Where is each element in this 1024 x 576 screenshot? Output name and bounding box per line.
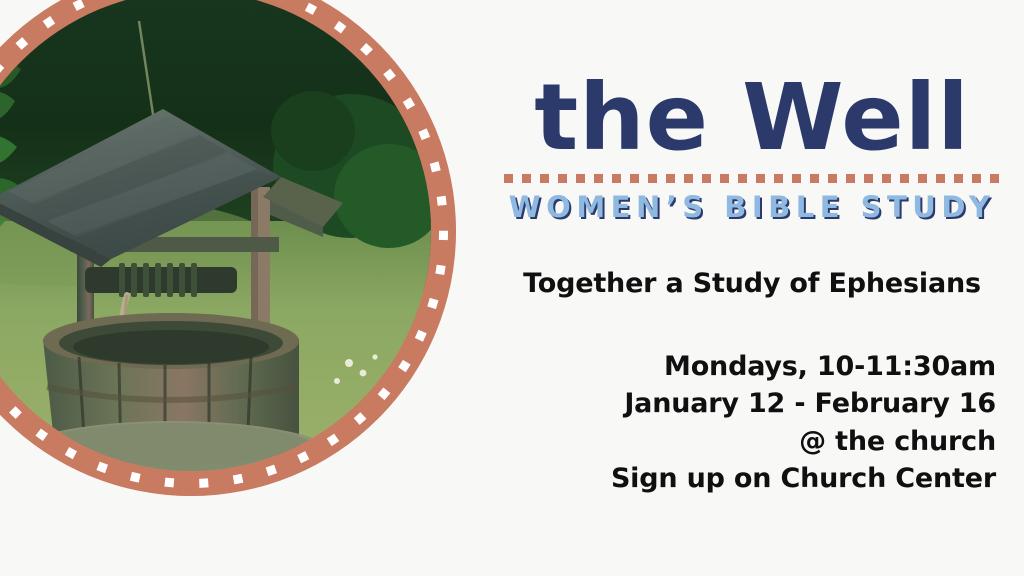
content-panel: the Well WOMEN’S BIBLE STUDY Together a … xyxy=(480,0,1024,576)
detail-line-time: Mondays, 10-11:30am xyxy=(526,348,996,385)
study-title: Together a Study of Ephesians xyxy=(496,268,1008,299)
brand-subtitle: WOMEN’S BIBLE STUDY xyxy=(496,190,1008,224)
brand-title: the Well xyxy=(496,72,1008,164)
photo-medallion xyxy=(0,0,456,496)
detail-line-dates: January 12 - February 16 xyxy=(526,385,996,422)
detail-line-signup: Sign up on Church Center xyxy=(526,460,996,497)
promo-slide: the Well WOMEN’S BIBLE STUDY Together a … xyxy=(0,0,1024,576)
dotted-divider xyxy=(504,174,1000,183)
brand-wordmark: the Well WOMEN’S BIBLE STUDY xyxy=(496,72,1008,224)
event-details: Mondays, 10-11:30am January 12 - Februar… xyxy=(526,348,996,497)
detail-line-location: @ the church xyxy=(526,423,996,460)
